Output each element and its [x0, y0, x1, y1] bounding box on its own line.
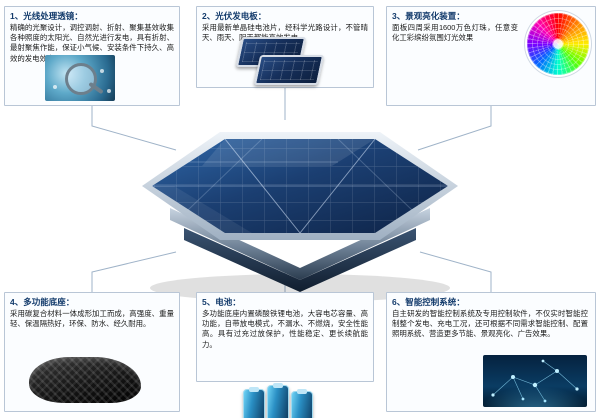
callout-body: 采用碳复合材料一体成形加工而成，高强度、重量轻、保温隔热好，环保、防水、经久耐用…: [10, 309, 174, 329]
night-network-icon: [483, 355, 587, 407]
callout-body: 自主研发的智能控制系统及专用控制软件，不仅实时智能控制整个发电、充电工况，还可根…: [392, 309, 590, 340]
callout-title: 1、光线处理透镜：: [10, 11, 174, 22]
callout-title: 2、光伏发电板：: [202, 11, 368, 22]
callout-card-smart-control: 6、智能控制系统： 自主研发的智能控制系统及专用控制软件，不仅实时智能控制整个发…: [386, 292, 596, 412]
callout-body: 多功能底座内置磷酸铁锂电池，大容电芯容量、高功能，自带放电模式，不漏水、不燃烧，…: [202, 309, 368, 350]
callout-card-multifunction-base: 4、多功能底座： 采用碳复合材料一体成形加工而成，高强度、重量轻、保温隔热好，环…: [4, 292, 180, 412]
callout-title: 6、智能控制系统：: [392, 297, 590, 308]
color-wheel-icon: [527, 13, 589, 75]
callout-card-battery: 5、电池： 多功能底座内置磷酸铁锂电池，大容电芯容量、高功能，自带放电模式，不漏…: [196, 292, 374, 382]
callout-title: 4、多功能底座：: [10, 297, 174, 308]
magnifier-icon: [45, 55, 115, 101]
callout-card-pv-panel: 2、光伏发电板： 采用最新单晶硅电池片，经科学光路设计，不管晴天、雨天、阴天都能…: [196, 6, 374, 88]
callout-card-light-diffuser: 1、光线处理透镜： 精确的光聚设计，调控调射、折射、聚集基效收集各种照度的太阳光…: [4, 6, 180, 106]
callout-body: 面板四周采用1600万色灯珠，任意变化工彩缤纷氛围灯光效果: [392, 23, 518, 43]
solar-panel-icon: [237, 35, 323, 85]
diagram-canvas: 1、光线处理透镜： 精确的光聚设计，调控调射、折射、聚集基效收集各种照度的太阳光…: [0, 0, 600, 418]
callout-card-landscape-lighting: 3、景观亮化装置： 面板四周采用1600万色灯珠，任意变化工彩缤纷氛围灯光效果: [386, 6, 596, 106]
carbon-shell-icon: [29, 351, 141, 409]
battery-cells-icon: [241, 385, 323, 418]
callout-title: 5、电池：: [202, 297, 368, 308]
hexagon-solar-panel: [132, 112, 468, 304]
